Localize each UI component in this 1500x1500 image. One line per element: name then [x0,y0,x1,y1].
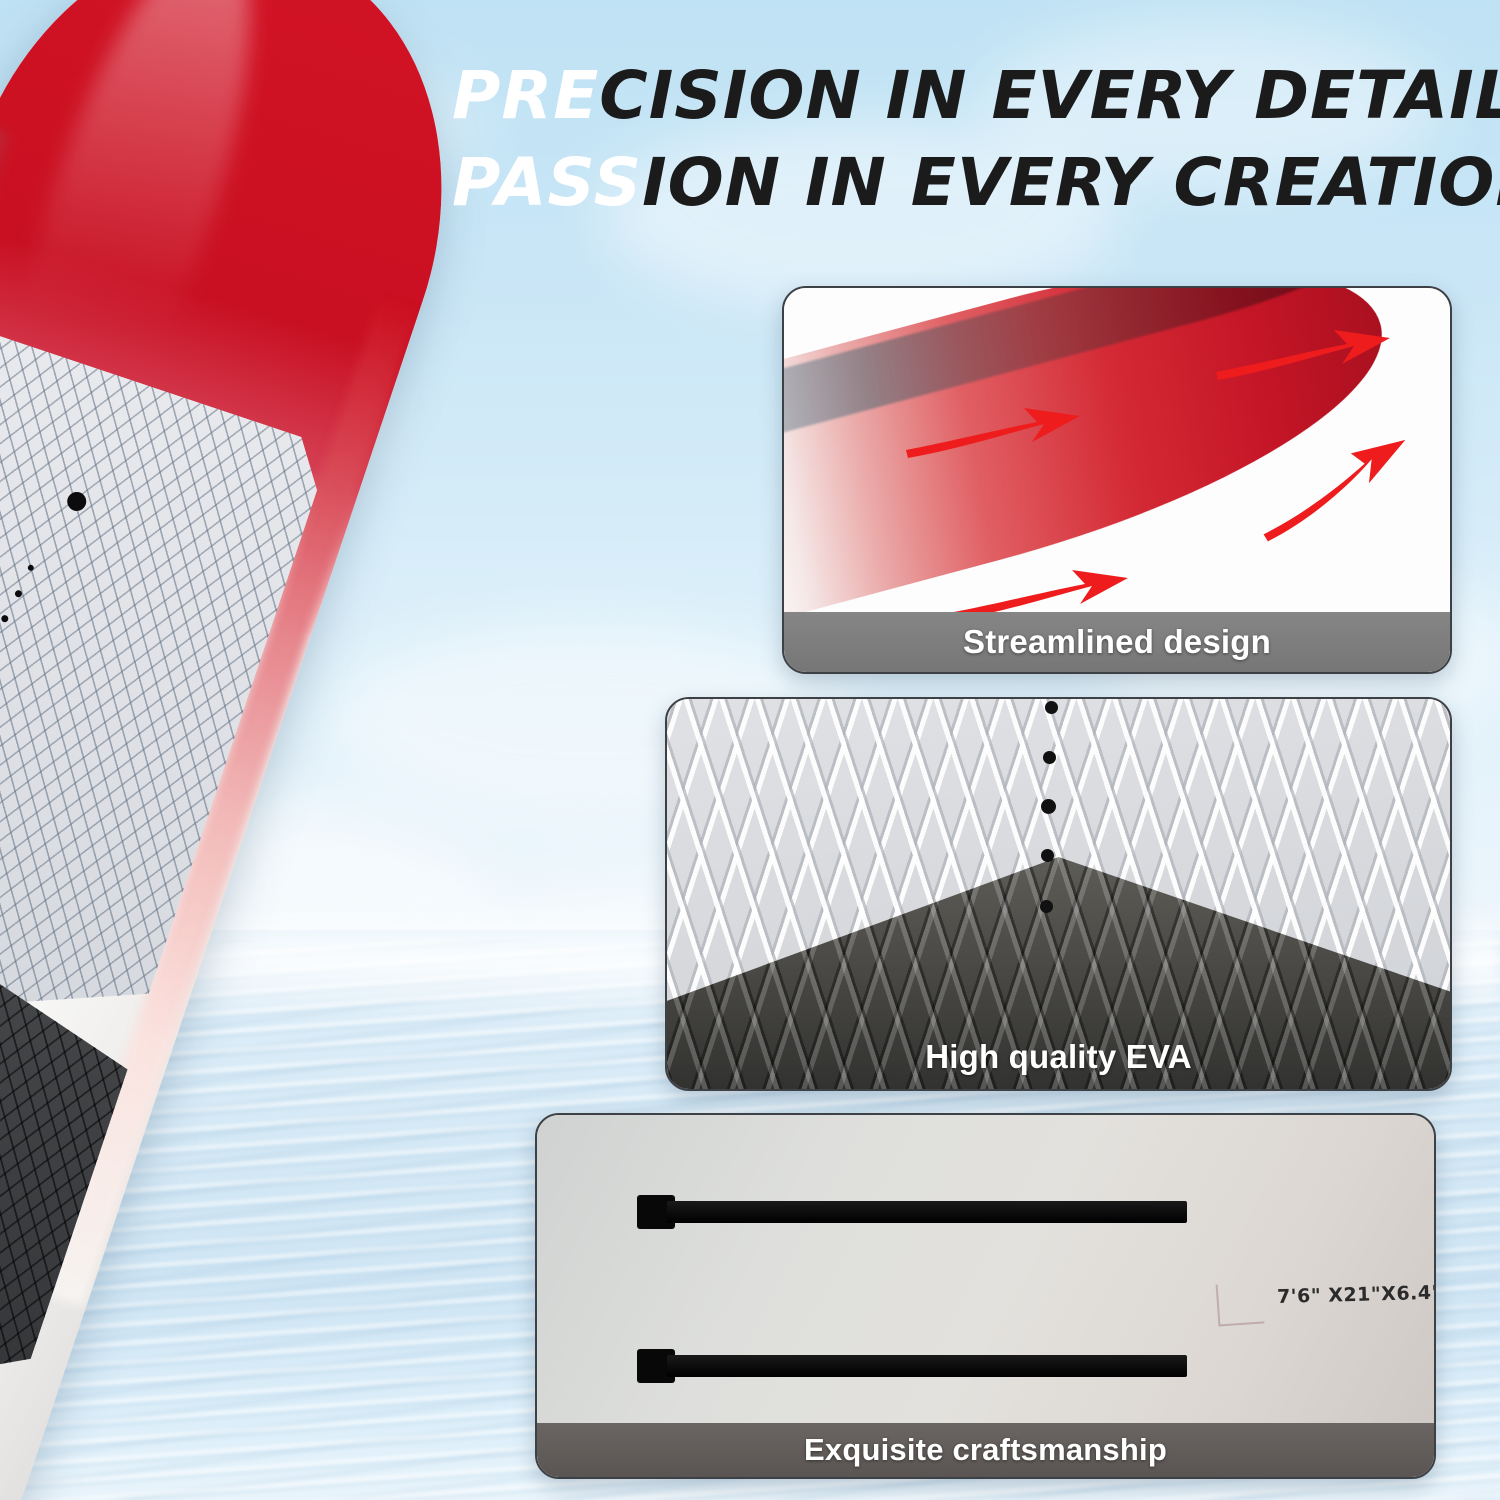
headline-line-2: PASSION IN EVERY CREATION [452,149,1482,218]
panel-caption-high-quality-eva: High quality EVA [667,1025,1450,1089]
eva-drain-dot [1041,799,1056,814]
feature-panel-exquisite-craftsmanship[interactable]: 7'6" X21"X6.4" 110L Exquisite craftsmans… [535,1113,1436,1479]
headline-line-1-rest: CISION IN EVERY DETAIL [599,57,1500,134]
eva-drain-dot [1045,701,1058,714]
feature-panel-high-quality-eva[interactable]: High quality EVA [665,697,1452,1091]
headline-line-2-rest: ION IN EVERY CREATION [642,144,1500,221]
panel-caption-text: Streamlined design [963,623,1271,661]
cable-strap [667,1201,1187,1223]
flow-arrow-icon [904,408,1104,468]
panel-caption-text: High quality EVA [925,1038,1192,1076]
headline-line-1-highlight: PRE [452,57,599,134]
panel-caption-exquisite-craftsmanship: Exquisite craftsmanship [537,1423,1434,1477]
product-feature-image: PRECISION IN EVERY DETAIL PASSION IN EVE… [0,0,1500,1500]
headline: PRECISION IN EVERY DETAIL PASSION IN EVE… [452,62,1482,217]
eva-drain-dot [1041,849,1054,862]
panel-caption-text: Exquisite craftsmanship [804,1432,1167,1468]
faint-pencil-mark [1216,1281,1265,1326]
headline-line-1: PRECISION IN EVERY DETAIL [452,62,1482,131]
flow-arrow-icon [1214,330,1414,390]
headline-line-2-highlight: PASS [452,144,642,221]
eva-drain-dot [1040,900,1053,913]
eva-drain-dot [1043,751,1056,764]
cable-strap [667,1355,1187,1377]
feature-panel-streamlined-design[interactable]: Streamlined design [782,286,1452,674]
panel-caption-streamlined-design: Streamlined design [784,612,1450,672]
